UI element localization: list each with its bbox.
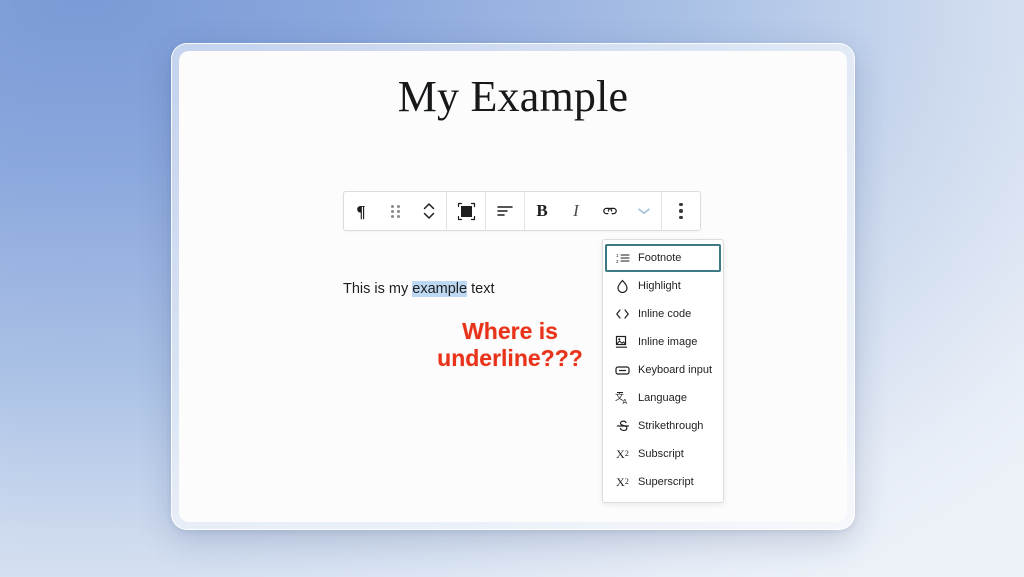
block-toolbar[interactable]: ¶ — [343, 191, 701, 231]
toolbar-group-options — [662, 192, 700, 230]
editor-canvas[interactable]: My Example ¶ — [179, 51, 847, 522]
toolbar-group-format: B I — [525, 192, 662, 230]
ordered-list-icon: 1 2 — [615, 251, 630, 266]
paragraph-text-before: This is my — [343, 281, 412, 297]
menu-item-language[interactable]: 文 A Language — [605, 384, 721, 412]
bold-icon: B — [536, 201, 547, 221]
toolbar-group-align — [486, 192, 525, 230]
vertical-dots-icon — [679, 203, 682, 219]
drag-handle-button[interactable] — [378, 192, 412, 230]
menu-item-inline-image[interactable]: Inline image — [605, 328, 721, 356]
link-icon — [601, 204, 619, 218]
bold-button[interactable]: B — [525, 192, 559, 230]
strikethrough-icon — [615, 419, 630, 434]
align-text-button[interactable] — [486, 192, 524, 230]
paragraph-text-after: text — [467, 281, 494, 297]
svg-text:2: 2 — [616, 259, 619, 264]
menu-item-footnote[interactable]: 1 2 Footnote — [605, 244, 721, 272]
menu-item-label: Strikethrough — [638, 420, 703, 432]
editor-window: My Example ¶ — [171, 43, 855, 530]
drag-handle-icon — [391, 205, 400, 218]
menu-item-inline-code[interactable]: Inline code — [605, 300, 721, 328]
screen: My Example ¶ — [0, 0, 1024, 577]
svg-text:A: A — [623, 399, 628, 405]
align-left-icon — [496, 203, 514, 219]
italic-icon: I — [573, 201, 579, 221]
menu-item-subscript[interactable]: X2 Subscript — [605, 440, 721, 468]
paragraph-block-type-button[interactable]: ¶ — [344, 192, 378, 230]
menu-item-label: Keyboard input — [638, 364, 712, 376]
more-formatting-button[interactable] — [627, 192, 661, 230]
keyboard-icon — [615, 363, 630, 378]
chevron-down-icon — [636, 206, 652, 216]
move-updown-button[interactable] — [412, 192, 446, 230]
transform-block-button[interactable] — [447, 192, 485, 230]
link-button[interactable] — [593, 192, 627, 230]
block-options-button[interactable] — [662, 192, 700, 230]
inline-code-icon — [615, 307, 630, 322]
toolbar-group-transform — [447, 192, 486, 230]
more-formatting-menu[interactable]: 1 2 Footnote Highlight — [602, 239, 724, 503]
block-transform-icon — [457, 202, 476, 221]
inline-image-icon — [615, 335, 630, 350]
menu-item-label: Highlight — [638, 280, 681, 292]
menu-item-strikethrough[interactable]: Strikethrough — [605, 412, 721, 440]
menu-item-superscript[interactable]: X2 Superscript — [605, 468, 721, 496]
superscript-icon: X2 — [615, 475, 630, 490]
menu-item-highlight[interactable]: Highlight — [605, 272, 721, 300]
menu-item-label: Superscript — [638, 476, 694, 488]
menu-item-label: Inline code — [638, 308, 691, 320]
svg-text:1: 1 — [616, 253, 619, 258]
italic-button[interactable]: I — [559, 192, 593, 230]
chevron-up-down-icon — [422, 200, 436, 222]
page-title[interactable]: My Example — [179, 71, 847, 122]
language-icon: 文 A — [615, 391, 630, 406]
menu-item-label: Subscript — [638, 448, 684, 460]
menu-item-keyboard-input[interactable]: Keyboard input — [605, 356, 721, 384]
highlight-drop-icon — [615, 279, 630, 294]
selected-text: example — [412, 281, 467, 297]
menu-item-label: Footnote — [638, 252, 681, 264]
menu-item-label: Language — [638, 392, 687, 404]
editor-paragraph[interactable]: This is my example text — [343, 281, 495, 297]
paragraph-icon: ¶ — [356, 203, 365, 220]
toolbar-group-block: ¶ — [344, 192, 447, 230]
subscript-icon: X2 — [615, 447, 630, 462]
menu-item-label: Inline image — [638, 336, 697, 348]
